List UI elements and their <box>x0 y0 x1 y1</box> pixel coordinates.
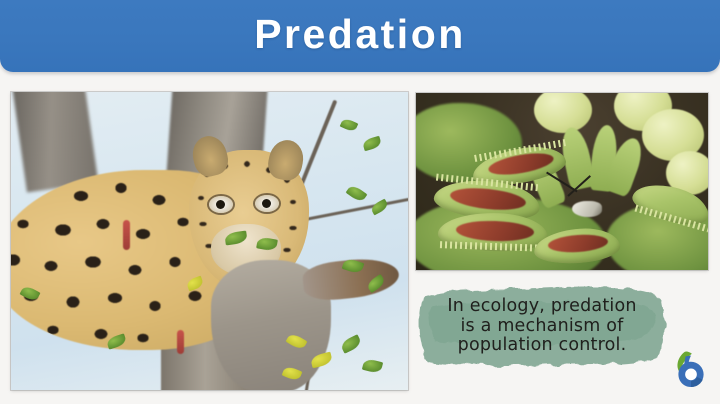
caption-line-1: In ecology, predation <box>447 297 636 316</box>
blood-mark-upper <box>123 220 130 250</box>
flytrap-scene <box>416 93 708 270</box>
caption-line-2: is a mechanism of <box>460 317 623 336</box>
page-title: Predation <box>254 14 466 59</box>
blood-mark-lower <box>177 330 184 354</box>
leopard-eye-right <box>255 195 279 212</box>
caption-text: In ecology, predation is a mechanism of … <box>417 281 667 371</box>
caption-line-3: population control. <box>458 336 627 355</box>
image-venus-flytrap <box>416 93 708 270</box>
title-banner: Predation <box>0 0 720 72</box>
biology-online-logo[interactable] <box>673 350 709 388</box>
slide-canvas: Predation <box>0 0 720 404</box>
caption-block: In ecology, predation is a mechanism of … <box>417 281 667 371</box>
logo-icon[interactable] <box>673 350 709 388</box>
leopard-eye-left <box>209 196 233 213</box>
logo-counter <box>685 369 697 381</box>
leopard-scene <box>11 92 408 390</box>
insect-prey <box>572 201 602 217</box>
image-leopard-predation <box>11 92 408 390</box>
